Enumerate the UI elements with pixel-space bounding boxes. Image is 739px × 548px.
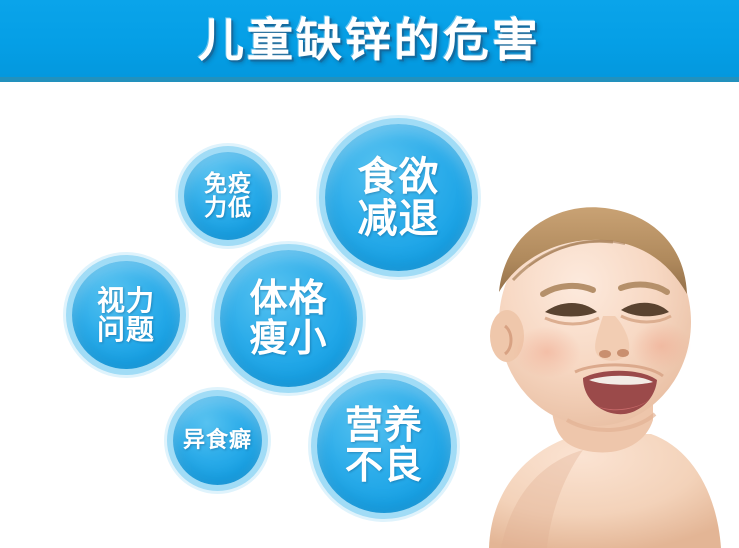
bubble-vision[interactable]: 视力 问题 [72,261,180,369]
baby-nostril-left [599,350,611,358]
bubble-immunity-line-2: 力低 [204,196,252,220]
bubble-malnutrition-line-2: 不良 [345,446,423,486]
bubble-appetite-line-1: 食欲 [358,156,440,198]
baby-cheek-left [513,326,581,378]
bubble-malnutrition[interactable]: 营养 不良 [317,379,451,513]
crying-baby-photo [455,196,739,548]
bubble-physique-line-1: 体格 [249,279,327,319]
baby-illustration [455,196,739,548]
page-title: 儿童缺锌的危害 [0,10,739,70]
bubble-appetite-line-2: 减退 [358,198,440,240]
poster-root: 儿童缺锌的危害 [0,0,739,548]
bubble-immunity-line-1: 免疫 [204,172,252,196]
bubble-vision-line-1: 视力 [97,286,155,315]
bubble-immunity[interactable]: 免疫 力低 [184,152,272,240]
bubble-pica[interactable]: 异食癖 [173,396,262,485]
header-banner: 儿童缺锌的危害 [0,0,739,77]
baby-cheek-right [631,322,691,370]
baby-nostril-right [617,349,629,357]
bubble-vision-line-2: 问题 [97,315,155,344]
bubble-malnutrition-line-1: 营养 [345,406,423,446]
bubble-appetite[interactable]: 食欲 减退 [325,124,472,271]
bubble-physique[interactable]: 体格 瘦小 [220,250,357,387]
bubble-pica-line-1: 异食癖 [183,429,252,452]
bubble-physique-line-2: 瘦小 [249,319,327,359]
